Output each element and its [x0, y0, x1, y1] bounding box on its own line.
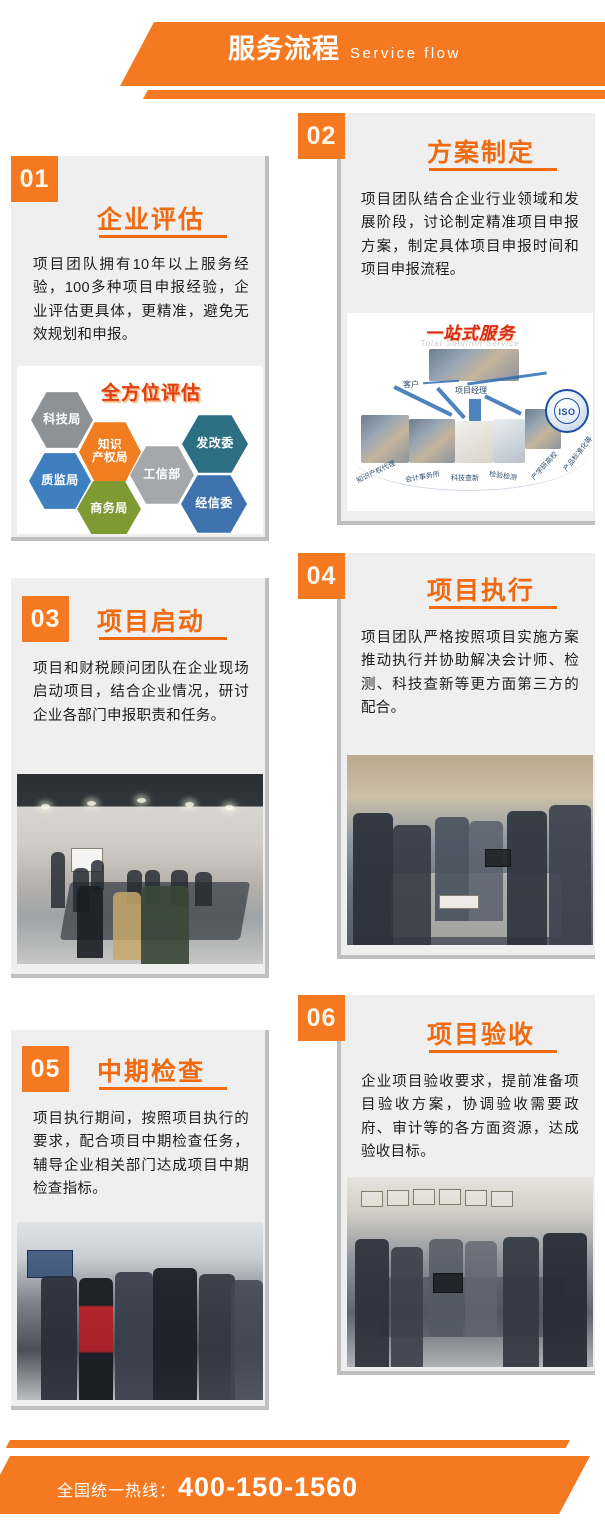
card-body-05: 项目执行期间，按照项目执行的要求，配合项目中期检查任务，辅导企业相关部门达成项目…	[33, 1108, 249, 1202]
boardroom-photo	[347, 1177, 593, 1367]
card-badge-03: 03	[22, 596, 69, 642]
service-flow-infographic: 服务流程 Service flow 企业评估 项目团队拥有10年以上服务经验，1…	[0, 0, 605, 1538]
person-foreground-1	[77, 886, 103, 958]
person-board-5	[503, 1237, 539, 1367]
person-board-1	[355, 1239, 389, 1367]
card-body-06: 企业项目验收要求，提前准备项目验收方案，协调验收需要政府、审计等的各方面资源，达…	[361, 1071, 579, 1165]
card-title-04: 项目执行	[427, 571, 535, 607]
card-badge-04: 04	[298, 553, 345, 599]
onestop-seal-label: ISO	[547, 407, 587, 417]
onestop-iso-seal-icon: ISO	[545, 389, 589, 433]
step-card-06: 项目验收 企业项目验收要求，提前准备项目验收方案，协调验收需要政府、审计等的各方…	[337, 995, 595, 1375]
hotline-number[interactable]: 400-150-1560	[178, 1472, 358, 1503]
onestop-arrow-1	[423, 380, 459, 385]
hexagon-assessment-diagram: 全方位评估 科技局 知识产权局 质监局 商务局 工信部 发改委 经信委	[17, 366, 263, 534]
hexagon-node-kejiju: 科技局	[31, 391, 93, 449]
person-lobby-1	[41, 1276, 77, 1400]
step-card-04: 项目执行 项目团队严格按照项目实施方案推动执行并协助解决会计师、检测、科技查新等…	[337, 553, 595, 959]
page-title: 服务流程	[228, 36, 340, 63]
card-badge-05: 05	[22, 1046, 69, 1092]
header-accent-stripe	[143, 90, 605, 99]
page-subtitle: Service flow	[350, 46, 461, 61]
documents-on-table	[439, 895, 479, 909]
person-left-1	[353, 813, 393, 945]
conference-room-photo	[17, 774, 263, 964]
card-body-04: 项目团队严格按照项目实施方案推动执行并协助解决会计师、检测、科技查新等更方面第三…	[361, 627, 579, 721]
wall-certificate-6	[491, 1191, 513, 1207]
onestop-client-label: 客户	[403, 379, 419, 390]
person-right-1	[507, 811, 547, 945]
person-standing	[51, 852, 65, 908]
person-foreground-green	[141, 886, 189, 964]
hexagon-node-jingxinwei: 经信委	[181, 474, 247, 534]
hexagon-diagram-title: 全方位评估	[101, 378, 201, 405]
wall-certificate-4	[439, 1189, 461, 1205]
person-lobby-red	[79, 1278, 113, 1400]
step-card-02: 方案制定 项目团队结合企业行业领域和发展阶段，讨论制定精准项目申报方案，制定具体…	[337, 113, 595, 525]
page-footer: 全国统一热线： 400-150-1560	[0, 1428, 605, 1538]
person-board-4	[465, 1241, 497, 1337]
card-title-underline-04	[429, 606, 557, 609]
onestop-center-label: 项目经理	[455, 385, 487, 396]
card-title-underline-05	[99, 1087, 227, 1090]
lobby-display-screen	[27, 1250, 73, 1278]
person-foreground-2	[113, 892, 141, 960]
card-title-02: 方案制定	[427, 133, 535, 169]
card-badge-02: 02	[298, 113, 345, 159]
page-header: 服务流程 Service flow	[0, 0, 605, 112]
footer-accent-stripe	[6, 1440, 570, 1448]
card-title-06: 项目验收	[427, 1015, 535, 1051]
wall-certificate-5	[465, 1190, 487, 1206]
wall-certificate-2	[387, 1190, 409, 1206]
card-badge-01: 01	[11, 156, 58, 202]
ceiling-light-4	[185, 802, 194, 807]
hotline-group: 全国统一热线： 400-150-1560	[57, 1472, 358, 1503]
card-title-05: 中期检查	[97, 1052, 205, 1088]
person-right-2	[549, 805, 591, 945]
step-card-01: 企业评估 项目团队拥有10年以上服务经验，100多种项目申报经验，企业评估更具体…	[11, 156, 269, 541]
card-title-03: 项目启动	[97, 602, 205, 638]
person-board-6	[543, 1233, 587, 1367]
card-title-underline-02	[429, 168, 557, 171]
card-body-01: 项目团队拥有10年以上服务经验，100多种项目申报经验，企业评估更具体，更精准，…	[33, 254, 249, 348]
card-title-underline-06	[429, 1050, 557, 1053]
onestop-subtitle: Total Solution Service	[347, 339, 593, 348]
person-board-2	[391, 1247, 423, 1367]
office-lobby-photo	[17, 1222, 263, 1400]
person-lobby-2	[115, 1272, 153, 1400]
card-body-02: 项目团队结合企业行业领域和发展阶段，讨论制定精准项目申报方案，制定具体项目申报时…	[361, 189, 579, 283]
card-title-underline-01	[99, 235, 227, 238]
card-title-underline-03	[99, 637, 227, 640]
ceiling-light-3	[137, 798, 146, 803]
header-title-group: 服务流程 Service flow	[228, 36, 461, 63]
person-6	[195, 872, 212, 906]
person-left-2	[393, 825, 431, 945]
laptop-board	[433, 1273, 463, 1293]
person-lobby-5	[231, 1280, 263, 1400]
ceiling-light-2	[87, 801, 96, 806]
one-stop-service-diagram: 一站式服务 Total Solution Service 客户 项目经理 ISO…	[347, 313, 593, 511]
person-lobby-4	[199, 1274, 235, 1400]
laptop-screen	[485, 849, 511, 867]
card-badge-06: 06	[298, 995, 345, 1041]
meeting-discussion-photo	[347, 755, 593, 945]
hexagon-node-fagaiwei: 发改委	[182, 414, 248, 474]
ceiling-light-1	[41, 804, 50, 809]
card-body-03: 项目和财税顾问团队在企业现场启动项目，结合企业情况，研讨企业各部门申报职责和任务…	[33, 658, 249, 728]
ceiling-light-5	[225, 805, 234, 810]
person-lobby-3	[153, 1268, 197, 1400]
wall-certificate-1	[361, 1191, 383, 1207]
wall-certificate-3	[413, 1189, 435, 1205]
onestop-service-label-3: 科技查新	[451, 473, 479, 483]
onestop-arrow-3	[393, 385, 452, 417]
hotline-label: 全国统一热线：	[57, 1477, 176, 1501]
onestop-arrow-6	[484, 394, 522, 415]
card-title-01: 企业评估	[97, 200, 205, 236]
